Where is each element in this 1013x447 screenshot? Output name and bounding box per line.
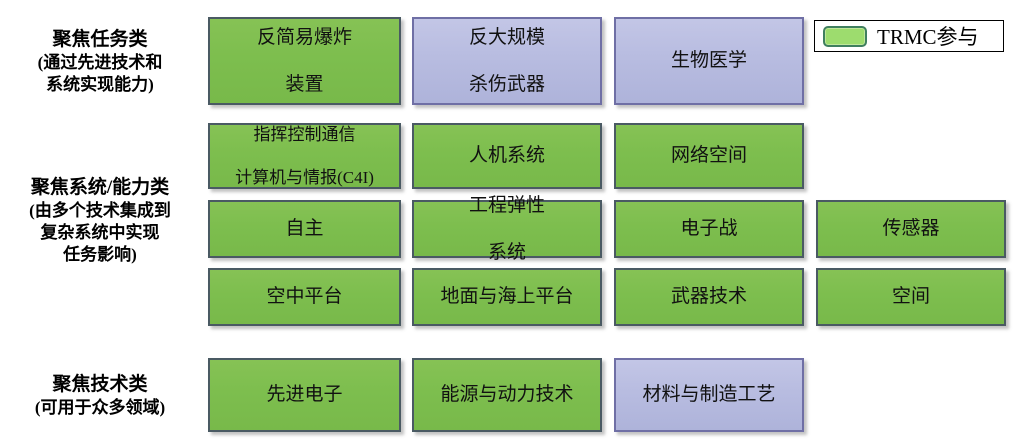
node-biomedical[interactable]: 生物医学 — [614, 17, 804, 105]
capability-taxonomy-diagram: 聚焦任务类 (通过先进技术和 系统实现能力) 反简易爆炸 装置 反大规模 杀伤武… — [0, 0, 1013, 447]
node-materials-and-manufacturing-label: 材料与制造工艺 — [620, 383, 798, 407]
node-autonomy[interactable]: 自主 — [208, 200, 401, 258]
node-sensors-label: 传感器 — [822, 217, 1000, 241]
row-label-mission-line2: (通过先进技术和 — [0, 52, 200, 74]
row-label-mission-line1: 聚焦任务类 — [0, 28, 200, 52]
row-label-system-focused: 聚焦系统/能力类 (由多个技术集成到 复杂系统中实现 任务影响) — [0, 176, 200, 266]
legend-label: TRMC参与 — [877, 21, 979, 51]
row-label-mission-line3: 系统实现能力) — [0, 74, 200, 96]
node-engineered-resilient-systems-line2: 系统 — [418, 241, 596, 265]
node-human-machine-systems-label: 人机系统 — [418, 144, 596, 168]
node-advanced-electronics-label: 先进电子 — [214, 383, 395, 407]
node-sensors[interactable]: 传感器 — [816, 200, 1006, 258]
row-label-system-line3: 复杂系统中实现 — [0, 222, 200, 244]
node-space[interactable]: 空间 — [816, 268, 1006, 326]
node-counter-wmd[interactable]: 反大规模 杀伤武器 — [412, 17, 602, 105]
node-ground-and-sea-platforms-label: 地面与海上平台 — [418, 285, 596, 309]
node-c4i[interactable]: 指挥控制通信 计算机与情报(C4I) — [208, 123, 401, 189]
node-counter-ied-line1: 反简易爆炸 — [214, 26, 395, 50]
node-counter-wmd-line1: 反大规模 — [418, 26, 596, 50]
node-biomedical-label: 生物医学 — [620, 49, 798, 73]
legend-trmc-involvement: TRMC参与 — [814, 20, 1004, 52]
node-weapons-technology[interactable]: 武器技术 — [614, 268, 804, 326]
node-counter-wmd-line2: 杀伤武器 — [418, 73, 596, 97]
node-ground-and-sea-platforms[interactable]: 地面与海上平台 — [412, 268, 602, 326]
node-materials-and-manufacturing[interactable]: 材料与制造工艺 — [614, 358, 804, 432]
node-counter-ied[interactable]: 反简易爆炸 装置 — [208, 17, 401, 105]
row-label-technology-line1: 聚焦技术类 — [0, 373, 200, 397]
node-c4i-line2: 计算机与情报(C4I) — [214, 167, 395, 188]
node-human-machine-systems[interactable]: 人机系统 — [412, 123, 602, 189]
node-cyberspace[interactable]: 网络空间 — [614, 123, 804, 189]
legend-color-swatch-icon — [823, 26, 867, 47]
node-electronic-warfare-label: 电子战 — [620, 217, 798, 241]
row-label-system-line1: 聚焦系统/能力类 — [0, 176, 200, 200]
node-engineered-resilient-systems[interactable]: 工程弹性 系统 — [412, 200, 602, 258]
node-autonomy-label: 自主 — [214, 217, 395, 241]
node-air-platforms[interactable]: 空中平台 — [208, 268, 401, 326]
row-label-system-line4: 任务影响) — [0, 244, 200, 266]
node-air-platforms-label: 空中平台 — [214, 285, 395, 309]
node-c4i-line1: 指挥控制通信 — [214, 124, 395, 145]
node-cyberspace-label: 网络空间 — [620, 144, 798, 168]
row-label-system-line2: (由多个技术集成到 — [0, 200, 200, 222]
node-engineered-resilient-systems-line1: 工程弹性 — [418, 194, 596, 218]
node-energy-and-power-technology[interactable]: 能源与动力技术 — [412, 358, 602, 432]
node-counter-ied-line2: 装置 — [214, 73, 395, 97]
node-weapons-technology-label: 武器技术 — [620, 285, 798, 309]
node-electronic-warfare[interactable]: 电子战 — [614, 200, 804, 258]
row-label-technology-line2: (可用于众多领域) — [0, 397, 200, 419]
row-label-technology-focused: 聚焦技术类 (可用于众多领域) — [0, 373, 200, 419]
node-space-label: 空间 — [822, 285, 1000, 309]
row-label-mission-focused: 聚焦任务类 (通过先进技术和 系统实现能力) — [0, 28, 200, 96]
node-advanced-electronics[interactable]: 先进电子 — [208, 358, 401, 432]
node-energy-and-power-technology-label: 能源与动力技术 — [418, 383, 596, 407]
